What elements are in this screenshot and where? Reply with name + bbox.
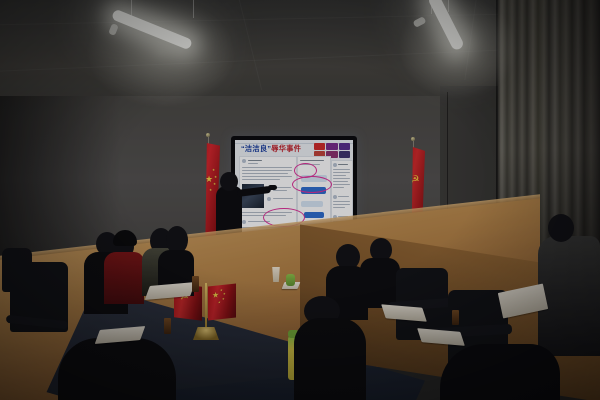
attendee-foreground-right [294,318,366,400]
attendee-foreground [58,338,176,400]
attendee-reading [538,236,600,356]
presenter-hand [268,185,277,190]
nameplate-holder [164,318,171,334]
nameplate-holder [192,276,199,292]
nameplate-holder [452,310,459,325]
attendee-foreground-right2 [440,344,560,400]
annotation-circle-2 [292,176,332,193]
flag-star-small: ★ [222,298,225,301]
flag-star-small: ★ [218,301,221,304]
flag-star-small: ★ [212,169,215,172]
flag-star-small: ★ [214,176,217,179]
water-bottle [286,274,295,286]
flag-star-small: ★ [213,183,216,186]
meeting-room-photo: ★ ★ ★ ★ ★ ☭ “洁洁良”辱华事件 [0,0,600,400]
flag-star-large: ★ [212,291,219,300]
desk-flag-china: ★ ★ ★ ★ ★ [208,284,236,321]
slide-title: “洁洁良”辱华事件 [241,144,301,154]
attendee-red-jacket [104,252,144,304]
flag-star-small: ★ [209,189,212,192]
flag-star-small: ★ [223,293,226,296]
